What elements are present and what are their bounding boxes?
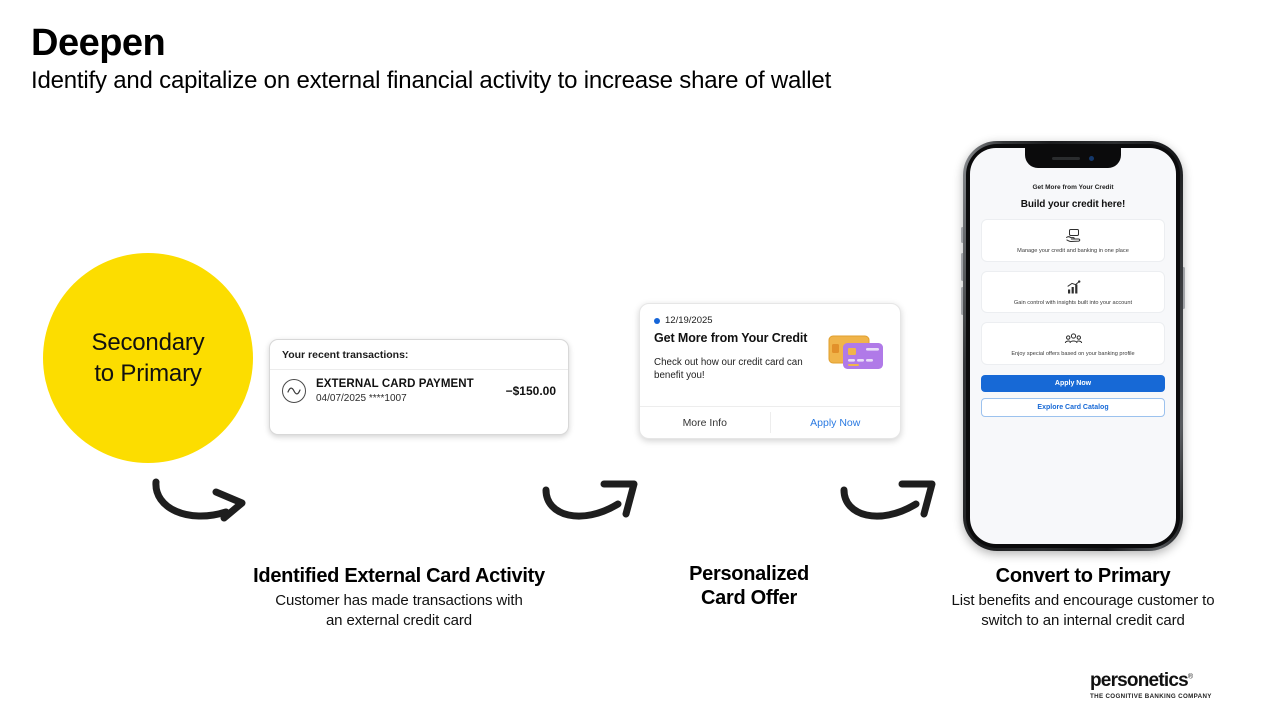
phone-headline: Build your credit here! (981, 199, 1165, 210)
transaction-row[interactable]: EXTERNAL CARD PAYMENT 04/07/2025 ****100… (270, 370, 568, 404)
offer-body: 12/19/2025 Get More from Your Credit Che… (640, 304, 900, 406)
hand-card-icon (988, 227, 1158, 244)
personetics-logo: personetics® THE COGNITIVE BANKING COMPA… (1090, 670, 1250, 700)
flow-arrow-2 (538, 472, 658, 539)
offer-date: 12/19/2025 (665, 315, 713, 326)
step-caption-1: Identified External Card Activity Custom… (199, 564, 599, 631)
offer-description: Check out how our credit card can benefi… (654, 356, 804, 382)
step-2-title-line2: Card Offer (638, 586, 860, 610)
circle-label-line1: Secondary (92, 327, 205, 358)
step-3-subtitle: List benefits and encourage customer to … (888, 591, 1278, 631)
step-2-title: Personalized Card Offer (638, 562, 860, 610)
phone-eyebrow: Get More from Your Credit (981, 184, 1165, 191)
page-title: Deepen (31, 24, 165, 64)
step-caption-3: Convert to Primary List benefits and enc… (888, 564, 1278, 631)
transaction-date-card: 04/07/2025 ****1007 (316, 393, 500, 404)
step-1-subtitle: Customer has made transactions with an e… (199, 591, 599, 631)
front-camera-icon (1089, 156, 1094, 161)
step-3-subtitle-line2: switch to an internal credit card (888, 611, 1278, 631)
more-info-button[interactable]: More Info (640, 407, 770, 438)
offer-actions: More Info Apply Now (640, 406, 900, 438)
benefit-text-2: Gain control with insights built into yo… (988, 300, 1158, 307)
benefit-card-3[interactable]: Enjoy special offers based on your banki… (981, 322, 1165, 365)
logo-wordmark-text: personetics (1090, 670, 1188, 691)
unread-dot-icon (654, 318, 660, 324)
phone-notch (1025, 148, 1121, 168)
transaction-amount: −$150.00 (506, 384, 556, 398)
earpiece-speaker-icon (1052, 157, 1080, 160)
page-subtitle: Identify and capitalize on external fina… (31, 67, 831, 95)
phone-mockup: Get More from Your Credit Build your cre… (963, 141, 1183, 551)
step-1-title: Identified External Card Activity (199, 564, 599, 588)
benefit-card-1[interactable]: Manage your credit and banking in one pl… (981, 219, 1165, 262)
circle-label-line2: to Primary (92, 358, 205, 389)
credit-cards-illustration-icon (827, 332, 889, 380)
benefit-text-1: Manage your credit and banking in one pl… (988, 248, 1158, 255)
phone-screen: Get More from Your Credit Build your cre… (970, 148, 1176, 544)
offer-date-row: 12/19/2025 (654, 315, 886, 326)
recent-transactions-card: Your recent transactions: EXTERNAL CARD … (269, 339, 569, 435)
phone-content: Get More from Your Credit Build your cre… (970, 148, 1176, 417)
step-3-subtitle-line1: List benefits and encourage customer to (888, 591, 1278, 611)
transaction-name: EXTERNAL CARD PAYMENT (316, 378, 500, 390)
step-2-title-line1: Personalized (638, 562, 860, 586)
step-3-title: Convert to Primary (888, 564, 1278, 588)
logo-wordmark: personetics® (1090, 670, 1250, 692)
logo-registered-mark: ® (1188, 674, 1192, 681)
benefit-card-2[interactable]: Gain control with insights built into yo… (981, 271, 1165, 314)
circle-label: Secondary to Primary (92, 327, 205, 389)
benefit-text-3: Enjoy special offers based on your banki… (988, 351, 1158, 358)
personalized-offer-card: 12/19/2025 Get More from Your Credit Che… (639, 303, 901, 439)
secondary-to-primary-circle: Secondary to Primary (43, 253, 253, 463)
transaction-texts: EXTERNAL CARD PAYMENT 04/07/2025 ****100… (316, 378, 500, 404)
phone-apply-now-button[interactable]: Apply Now (981, 375, 1165, 392)
step-1-subtitle-line1: Customer has made transactions with (199, 591, 599, 611)
step-1-subtitle-line2: an external credit card (199, 611, 599, 631)
flow-arrow-1 (148, 472, 268, 539)
logo-tagline: THE COGNITIVE BANKING COMPANY (1090, 693, 1250, 700)
slide-canvas: Deepen Identify and capitalize on extern… (0, 0, 1280, 720)
transactions-heading: Your recent transactions: (270, 340, 568, 370)
bar-chart-icon (988, 279, 1158, 296)
apply-now-button[interactable]: Apply Now (771, 407, 901, 438)
step-caption-2: Personalized Card Offer (638, 562, 860, 610)
wave-circle-icon (282, 379, 306, 403)
phone-explore-card-catalog-button[interactable]: Explore Card Catalog (981, 398, 1165, 417)
flow-arrow-3 (836, 472, 956, 539)
people-icon (988, 330, 1158, 347)
